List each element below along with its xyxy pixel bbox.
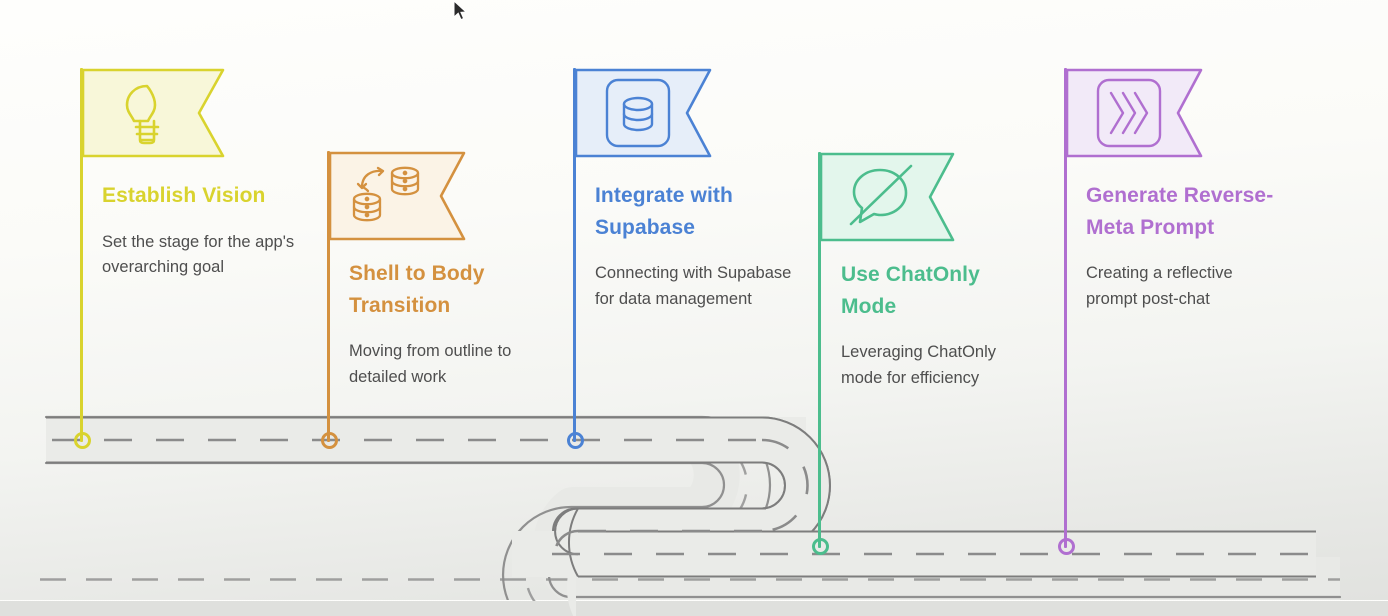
flag-banner-chat-disabled [819,152,955,242]
milestone-description: Set the stage for the app's overarching … [102,230,298,281]
flag-banner-database-transfer [328,151,466,241]
flag-banner-database [574,68,712,158]
milestone-title: Generate Reverse-Meta Prompt [1086,180,1286,243]
milestone-title: Establish Vision [102,180,298,212]
milestone-description: Connecting with Supabase for data manage… [595,261,795,312]
road-marker[interactable] [565,430,586,451]
diagram-canvas: Establish Vision Set the stage for the a… [0,0,1388,616]
milestone-description: Leveraging ChatOnly mode for efficiency [841,340,1041,391]
milestone-title: Shell to Body Transition [349,258,545,321]
flag-banner-fast-forward [1065,68,1203,158]
road-marker[interactable] [1056,536,1077,557]
road-marker[interactable] [72,430,93,451]
road-marker[interactable] [319,430,340,451]
flag-banner-lightbulb [81,68,225,158]
road-marker[interactable] [810,536,831,557]
milestone-title: Integrate with Supabase [595,180,795,243]
milestone-title: Use ChatOnly Mode [841,259,1041,322]
milestone-description: Moving from outline to detailed work [349,339,545,390]
milestone-description: Creating a reflective prompt post-chat [1086,261,1286,312]
